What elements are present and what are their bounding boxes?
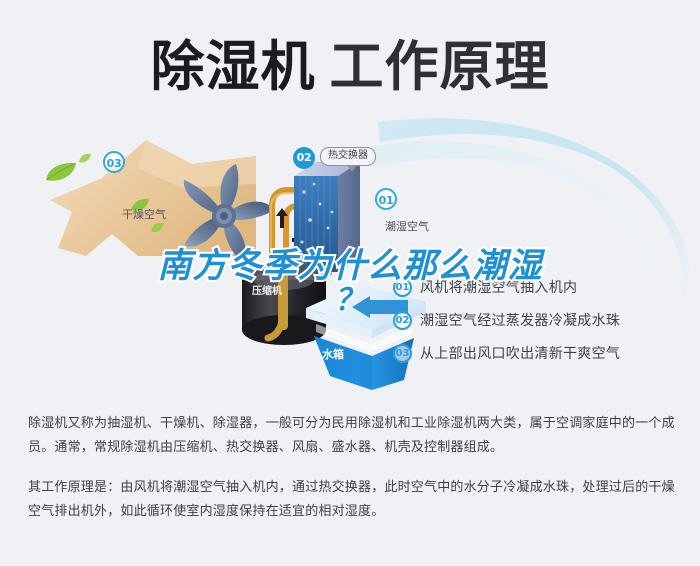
- badge-03: 03: [103, 151, 125, 173]
- legend-item: 02 潮湿空气经过蒸发器冷凝成水珠: [393, 309, 693, 331]
- compressor-label: 压缩机: [252, 282, 282, 297]
- body-paragraph-1: 除湿机又称为抽湿机、干燥机、除湿器，一般可分为民用除湿机和工业除湿机两大类，属于…: [28, 412, 678, 460]
- legend-text-01: 风机将潮湿空气抽入机内: [420, 277, 577, 297]
- legend-badge-01: 01: [393, 278, 412, 297]
- legend-text-02: 潮湿空气经过蒸发器冷凝成水珠: [420, 310, 620, 330]
- legend-list: 01 风机将潮湿空气抽入机内 02 潮湿空气经过蒸发器冷凝成水珠 03 从上部出…: [393, 276, 693, 375]
- heat-exchanger-callout: 热交换器: [320, 147, 376, 166]
- page-title-part2: 工作原理: [330, 35, 550, 98]
- legend-item: 03 从上部出风口吹出清新干爽空气: [393, 342, 693, 364]
- legend-badge-03: 03: [393, 344, 412, 363]
- infographic-page: 除湿机工作原理: [0, 0, 700, 566]
- page-title: 除湿机工作原理: [0, 22, 700, 101]
- body-paragraph-2: 其工作原理是：由风机将潮湿空气抽入机内，通过热交换器，此时空气中的水分子冷凝成水…: [28, 476, 678, 524]
- moist-air-label: 潮湿空气: [385, 218, 429, 234]
- badge-02: 02: [293, 147, 315, 169]
- legend-text-03: 从上部出风口吹出清新干爽空气: [420, 343, 620, 363]
- leaf-icon: [44, 162, 78, 182]
- leaf-icon: [78, 150, 92, 160]
- dry-air-label: 干燥空气: [122, 206, 166, 222]
- body-copy: 除湿机又称为抽湿机、干燥机、除湿器，一般可分为民用除湿机和工业除湿机两大类，属于…: [28, 412, 678, 524]
- page-title-part1: 除湿机: [151, 35, 316, 98]
- badge-01: 01: [375, 188, 397, 210]
- legend-badge-02: 02: [393, 311, 412, 330]
- water-tank-label: 水箱: [322, 346, 344, 362]
- legend-item: 01 风机将潮湿空气抽入机内: [393, 276, 693, 298]
